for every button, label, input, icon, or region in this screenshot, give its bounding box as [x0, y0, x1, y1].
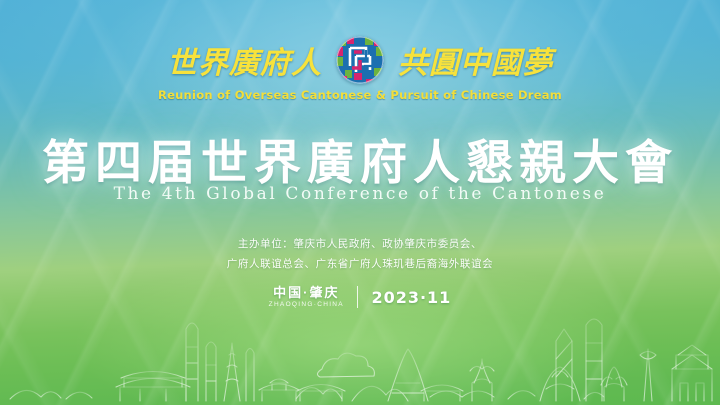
organizers-line-2: 广府人联谊总会、广东省广府人珠玑巷后裔海外联谊会 [0, 254, 720, 274]
location-chinese: 中国·肇庆 [269, 286, 344, 300]
organizers-line-1: 主办单位：肇庆市人民政府、政协肇庆市委员会、 [0, 234, 720, 254]
guangfu-circular-emblem [336, 36, 384, 84]
slogan-right: 共圓中國夢 [398, 38, 553, 82]
location-english: ZHAOQING·CHINA [269, 302, 344, 309]
organizers-block: 主办单位：肇庆市人民政府、政协肇庆市委员会、 广府人联谊总会、广东省广府人珠玑巷… [0, 234, 720, 274]
conference-poster: 世界廣府人 [0, 0, 720, 405]
location: 中国·肇庆 ZHAOQING·CHINA [269, 286, 344, 308]
main-title-english: The 4th Global Conference of the Cantone… [0, 184, 720, 204]
event-date: 2023·11 [371, 288, 451, 307]
meta-divider [357, 286, 359, 308]
slogan-left: 世界廣府人 [167, 38, 322, 82]
main-title-chinese: 第四届世界廣府人懇親大會 [0, 124, 720, 193]
header-lockup: 世界廣府人 [0, 36, 720, 84]
tagline-english: Reunion of Overseas Cantonese & Pursuit … [0, 88, 720, 102]
location-date-block: 中国·肇庆 ZHAOQING·CHINA 2023·11 [0, 286, 720, 308]
